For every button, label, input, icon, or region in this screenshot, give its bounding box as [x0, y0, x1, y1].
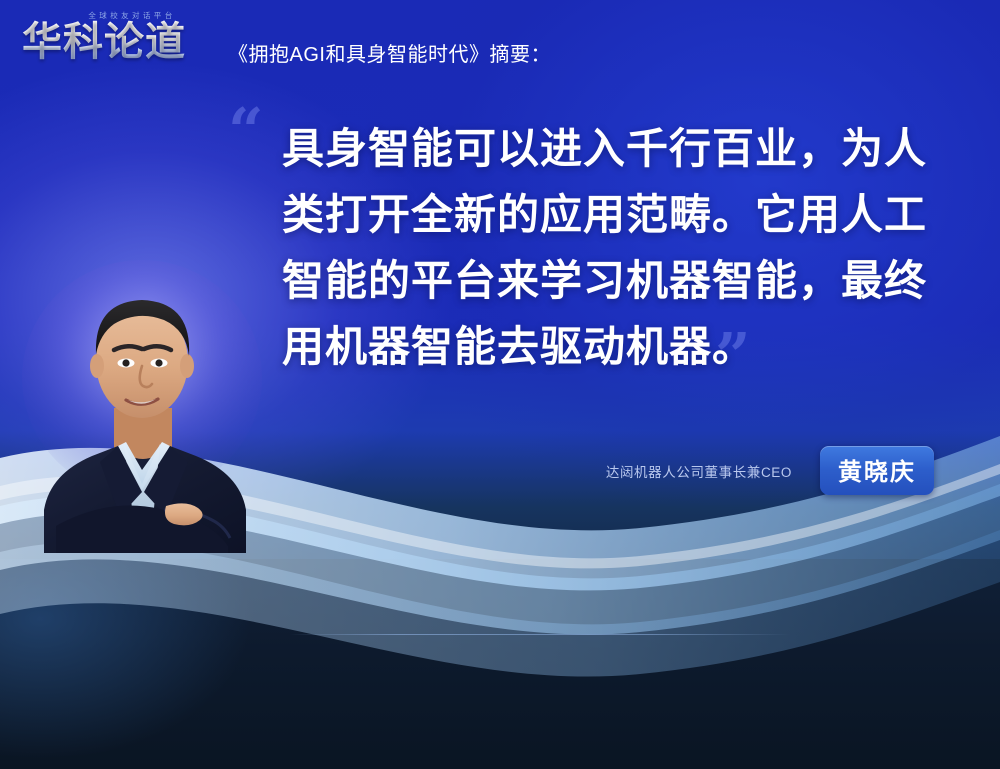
footer: 入群请咨询工作人员： 微信号 srh15029033920（苏同学） 微信号 y…	[0, 640, 1000, 769]
speaker-name-badge: 黄晓庆	[820, 446, 934, 495]
header: 全球校友对话平台 华科论道 《拥抱AGI和具身智能时代》摘要：	[0, 0, 1000, 92]
quote-line: 用机器智能去驱动机器。	[282, 314, 947, 380]
quote-line: 具身智能可以进入千行百业，为人	[282, 116, 947, 182]
quote-text: 具身智能可以进入千行百业，为人 类打开全新的应用范畴。它用人工 智能的平台来学习…	[282, 116, 947, 380]
quote-line: 智能的平台来学习机器智能，最终	[282, 248, 947, 314]
page-title: 《拥抱AGI和具身智能时代》摘要：	[228, 38, 551, 67]
speaker-role: 达闼机器人公司董事长兼CEO	[606, 461, 792, 481]
attribution: 达闼机器人公司董事长兼CEO 黄晓庆	[606, 446, 920, 495]
footer-divider	[290, 634, 790, 635]
brand-logo: 全球校友对话平台 华科论道	[22, 8, 222, 78]
speaker-portrait	[14, 258, 276, 553]
quote-line: 类打开全新的应用范畴。它用人工	[282, 182, 947, 248]
quote-open-icon: “	[228, 100, 264, 162]
brand-name: 华科论道	[22, 18, 222, 66]
poster-root: 全球校友对话平台 华科论道 《拥抱AGI和具身智能时代》摘要：	[0, 0, 1000, 769]
